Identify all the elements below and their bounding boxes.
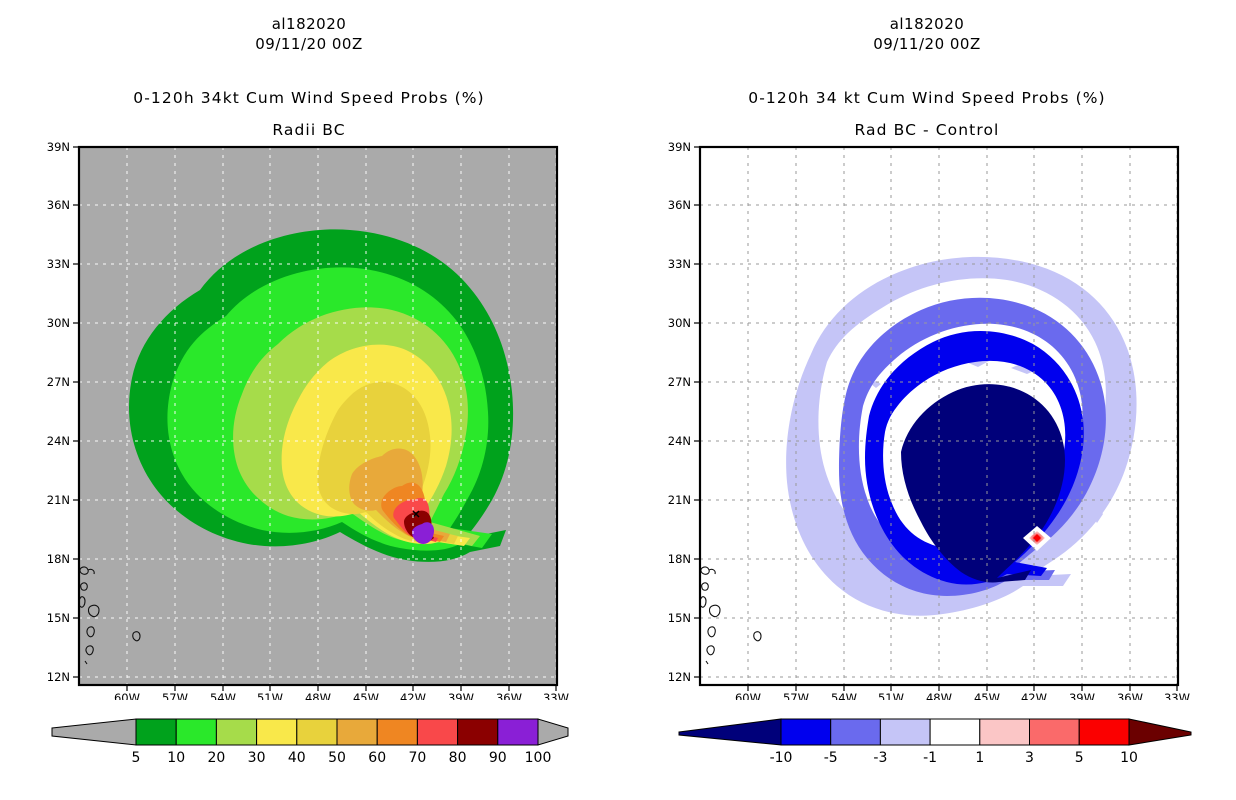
left-xtick-9: 33W	[543, 691, 569, 700]
right-xtick-7: 39W	[1069, 691, 1095, 700]
right-cb-swatch-4	[980, 719, 1030, 745]
left-cb-swatches	[136, 719, 538, 745]
right-cb-tick-6: 5	[1075, 750, 1084, 766]
right-xtick-6: 42W	[1021, 691, 1047, 700]
left-xtick-0: 60W	[114, 691, 140, 700]
left-cb-swatch-6	[377, 719, 417, 745]
left-xtick-8: 36W	[496, 691, 522, 700]
right-xtick-0: 60W	[735, 691, 761, 700]
right-ytick-2: 33N	[668, 257, 691, 271]
right-ytick-4: 27N	[668, 375, 691, 389]
left-ytick-2: 33N	[47, 257, 70, 271]
right-ytick-9: 12N	[668, 670, 691, 684]
right-cb-swatch-1	[831, 719, 881, 745]
right-cb-tick-2: -3	[873, 750, 887, 766]
right-cb-swatches	[781, 719, 1129, 745]
right-cb-swatch-5	[1030, 719, 1080, 745]
right-cb-tick-7: 10	[1120, 750, 1138, 766]
left-cb-swatch-8	[458, 719, 498, 745]
right-cb-tick-0: -10	[770, 750, 793, 766]
left-cb-tick-8: 80	[449, 750, 467, 766]
left-ytick-3: 30N	[47, 316, 70, 330]
left-ytick-9: 12N	[47, 670, 70, 684]
panel-radii-bc: al182020 09/11/20 00Z 0-120h 34kt Cum Wi…	[0, 0, 618, 800]
right-cb-swatch-0	[781, 719, 831, 745]
left-cb-tick-2: 20	[207, 750, 225, 766]
right-xtick-3: 51W	[878, 691, 904, 700]
right-xtick-8: 36W	[1117, 691, 1143, 700]
right-cb-tick-4: 1	[975, 750, 984, 766]
left-colorbar: 5 10 20 30 40 50 60 70 80 90 100	[30, 712, 590, 768]
left-ytick-0: 39N	[47, 140, 70, 154]
left-xtick-5: 45W	[353, 691, 379, 700]
left-cb-tick-4: 40	[288, 750, 306, 766]
right-ytick-1: 36N	[668, 198, 691, 212]
right-xtick-2: 54W	[831, 691, 857, 700]
right-cb-tick-3: -1	[923, 750, 937, 766]
right-cb-swatch-6	[1079, 719, 1129, 745]
right-ytick-0: 39N	[668, 140, 691, 154]
left-cb-swatch-1	[176, 719, 216, 745]
left-title-line1: 0-120h 34kt Cum Wind Speed Probs (%)	[0, 88, 618, 109]
left-ytick-6: 21N	[47, 493, 70, 507]
left-cb-tick-10: 100	[525, 750, 552, 766]
left-cb-under-arrow	[52, 719, 136, 745]
left-cb-tick-0: 5	[132, 750, 141, 766]
right-datetime: 09/11/20 00Z	[618, 34, 1236, 54]
right-cb-swatch-3	[930, 719, 980, 745]
left-map: 39N 36N 33N 30N 27N 24N 21N 18N 15N 12N	[30, 140, 590, 700]
right-ytick-5: 24N	[668, 434, 691, 448]
right-xtick-9: 33W	[1164, 691, 1190, 700]
left-datetime: 09/11/20 00Z	[0, 34, 618, 54]
left-cb-swatch-9	[498, 719, 538, 745]
left-cb-swatch-2	[216, 719, 256, 745]
right-cb-under-arrow	[679, 719, 781, 745]
right-title-line2: Rad BC - Control	[618, 120, 1236, 141]
left-cb-tick-5: 50	[328, 750, 346, 766]
left-cb-tick-6: 60	[368, 750, 386, 766]
right-cb-over-arrow	[1129, 719, 1191, 745]
left-cb-tick-9: 90	[489, 750, 507, 766]
left-ytick-8: 15N	[47, 611, 70, 625]
left-cb-swatch-4	[297, 719, 337, 745]
right-cb-tick-5: 3	[1025, 750, 1034, 766]
right-ytick-3: 30N	[668, 316, 691, 330]
left-cb-tick-3: 30	[248, 750, 266, 766]
right-map: 39N 36N 33N 30N 27N 24N 21N 18N 15N 12N	[651, 140, 1211, 700]
panel-rad-bc-minus-control: al182020 09/11/20 00Z 0-120h 34 kt Cum W…	[618, 0, 1236, 800]
left-ytick-1: 36N	[47, 198, 70, 212]
left-cb-over-arrow	[538, 719, 568, 745]
right-xtick-1: 57W	[783, 691, 809, 700]
left-cb-swatch-5	[337, 719, 377, 745]
left-xtick-4: 48W	[305, 691, 331, 700]
left-cb-swatch-3	[257, 719, 297, 745]
left-ytick-5: 24N	[47, 434, 70, 448]
left-storm-id: al182020	[0, 14, 618, 34]
left-xtick-7: 39W	[448, 691, 474, 700]
right-title-line1: 0-120h 34 kt Cum Wind Speed Probs (%)	[618, 88, 1236, 109]
left-xtick-3: 51W	[257, 691, 283, 700]
figure-root: al182020 09/11/20 00Z 0-120h 34kt Cum Wi…	[0, 0, 1236, 800]
right-cb-tick-1: -5	[824, 750, 838, 766]
left-cb-tick-7: 70	[408, 750, 426, 766]
left-title-line2: Radii BC	[0, 120, 618, 141]
left-cb-swatch-0	[136, 719, 176, 745]
left-xtick-2: 54W	[210, 691, 236, 700]
left-xtick-1: 57W	[162, 691, 188, 700]
right-ytick-7: 18N	[668, 552, 691, 566]
left-ytick-4: 27N	[47, 375, 70, 389]
left-cb-tick-1: 10	[167, 750, 185, 766]
right-ytick-8: 15N	[668, 611, 691, 625]
left-xtick-6: 42W	[400, 691, 426, 700]
right-storm-id: al182020	[618, 14, 1236, 34]
left-cb-swatch-7	[417, 719, 457, 745]
right-cb-swatch-2	[880, 719, 930, 745]
right-colorbar: -10 -5 -3 -1 1 3 5 10	[651, 712, 1211, 768]
right-xtick-5: 45W	[974, 691, 1000, 700]
right-ytick-6: 21N	[668, 493, 691, 507]
left-ytick-7: 18N	[47, 552, 70, 566]
right-xtick-4: 48W	[926, 691, 952, 700]
